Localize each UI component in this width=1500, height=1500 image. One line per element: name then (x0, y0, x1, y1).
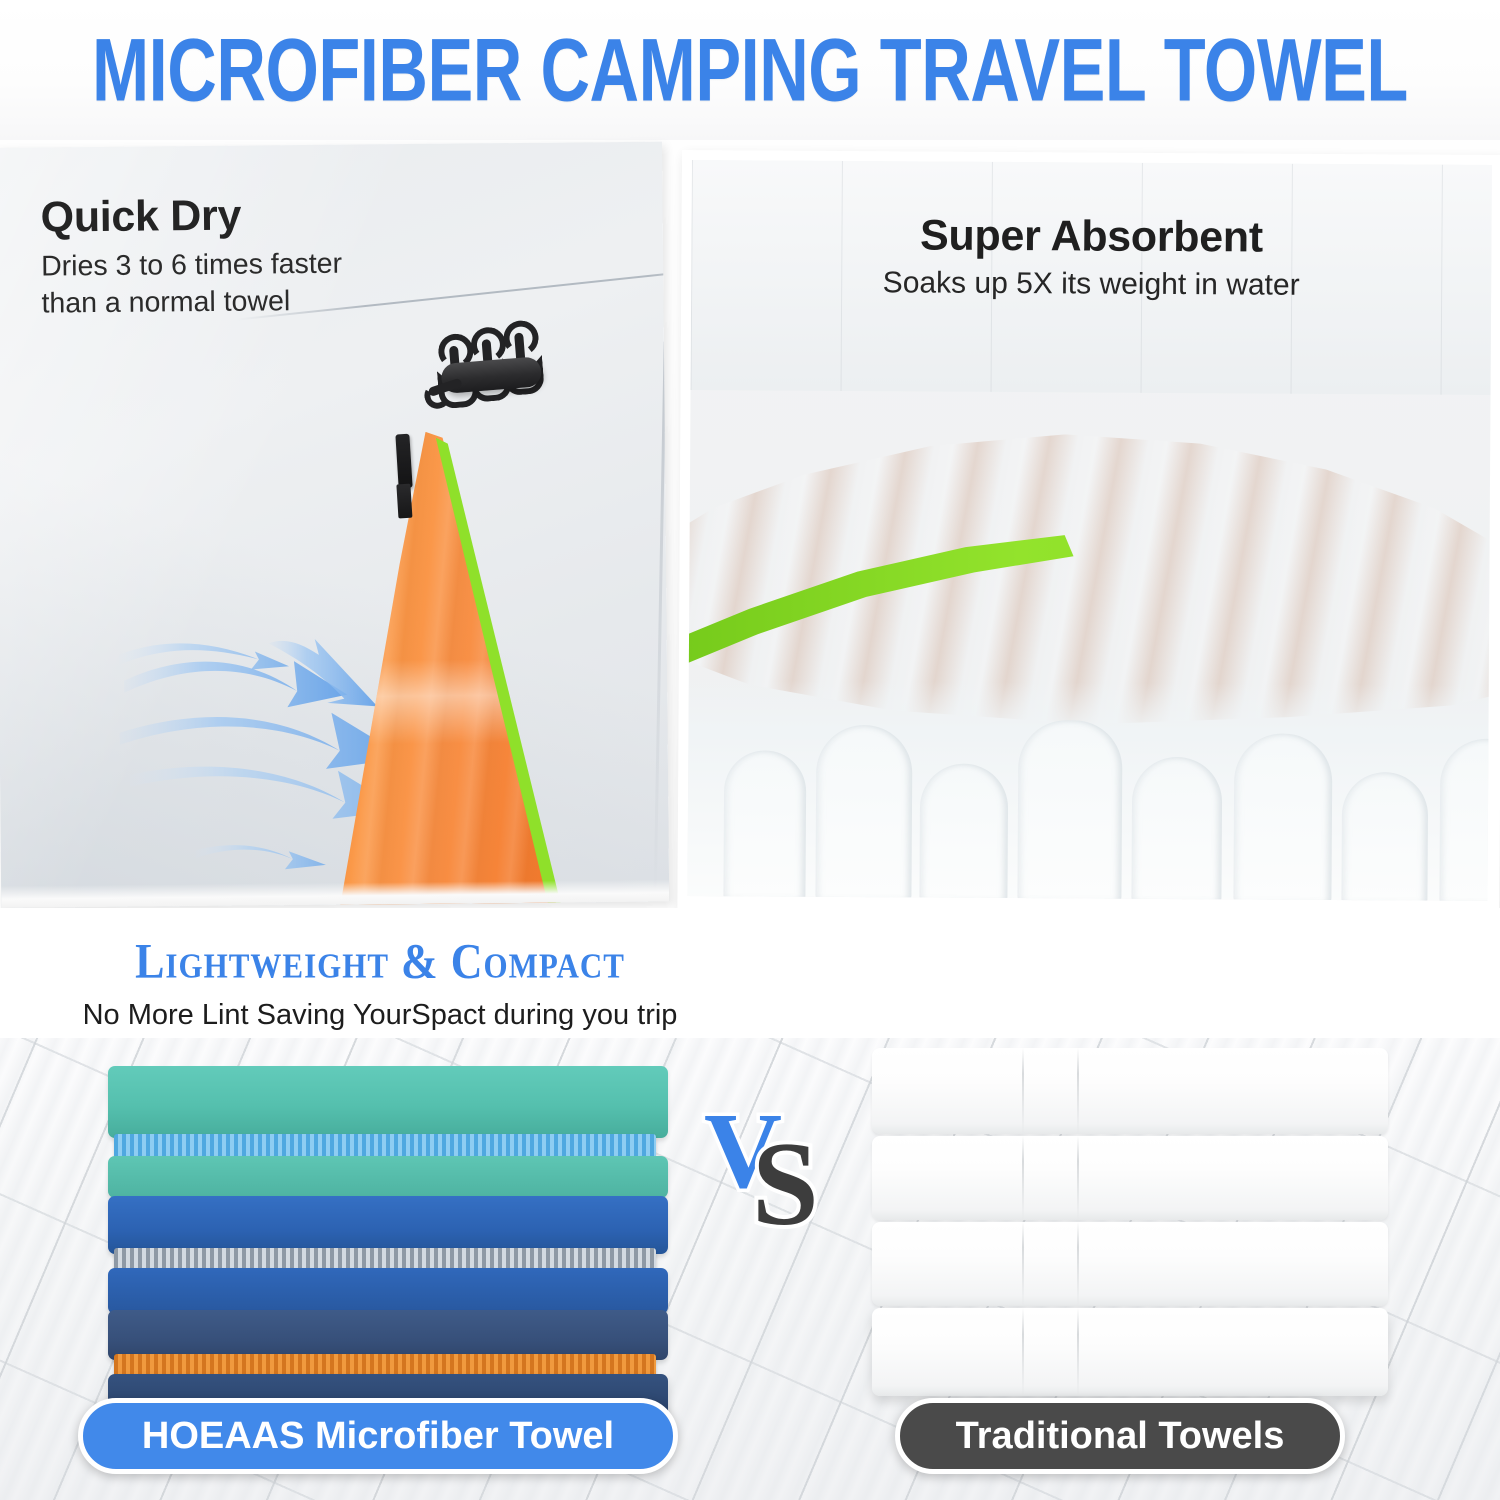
versus-s-letter: S (752, 1124, 819, 1244)
list-item (108, 1156, 668, 1198)
comparison-heading: Lightweight & Compact (0, 933, 760, 990)
water-stream (919, 763, 1008, 900)
page-title: MICROFIBER CAMPING TRAVEL TOWEL (92, 25, 1408, 114)
water-stream (1131, 757, 1222, 901)
quick-dry-panel: Quick Dry Dries 3 to 6 times faster than… (0, 142, 669, 908)
towel-seam (1077, 1222, 1079, 1306)
comparison-subheading: No More Lint Saving YourSpact during you… (0, 999, 760, 1032)
super-absorbent-body: Soaks up 5X its weight in water (691, 265, 1491, 304)
comparison-text-block: Lightweight & Compact No More Lint Savin… (0, 936, 760, 1032)
water-drip-icon (687, 680, 1488, 901)
super-absorbent-text-block: Super Absorbent Soaks up 5X its weight i… (691, 210, 1492, 304)
towel-seam (1022, 1136, 1024, 1220)
towel-seam (1022, 1308, 1024, 1396)
water-stream (1017, 720, 1122, 901)
microfiber-stack (108, 1066, 668, 1386)
list-item (872, 1136, 1388, 1220)
towel-loop-tag (396, 484, 412, 519)
list-item (108, 1310, 668, 1360)
quick-dry-body-line2: than a normal towel (41, 282, 421, 322)
list-item (872, 1222, 1388, 1306)
microfiber-towel-label: HOEAAS Microfiber Towel (78, 1398, 678, 1474)
page-title-bar: MICROFIBER CAMPING TRAVEL TOWEL (0, 0, 1500, 140)
quick-dry-heading: Quick Dry (40, 192, 420, 241)
water-stream (1341, 772, 1428, 901)
list-item (108, 1066, 668, 1138)
hanging-towel-image (249, 430, 595, 908)
list-item (108, 1196, 668, 1254)
towel-seam (1022, 1222, 1024, 1306)
super-absorbent-scene: Super Absorbent Soaks up 5X its weight i… (687, 160, 1491, 901)
water-stream (1233, 733, 1332, 901)
list-item (108, 1268, 668, 1314)
towel-seam (1077, 1048, 1079, 1134)
traditional-towels-label: Traditional Towels (895, 1398, 1345, 1474)
super-absorbent-panel: Super Absorbent Soaks up 5X its weight i… (677, 150, 1500, 915)
water-stream (723, 750, 806, 900)
water-stream (815, 725, 912, 901)
list-item (872, 1308, 1388, 1396)
towel-seam (1022, 1048, 1024, 1134)
water-stream (1439, 739, 1492, 901)
quick-dry-text-block: Quick Dry Dries 3 to 6 times faster than… (40, 192, 421, 322)
list-item (872, 1048, 1388, 1134)
towel-brand-tag (395, 434, 412, 489)
towel-seam (1077, 1136, 1079, 1220)
versus-badge: V S (700, 1090, 850, 1250)
towel-seam (1077, 1308, 1079, 1396)
super-absorbent-heading: Super Absorbent (691, 210, 1491, 264)
traditional-stack (872, 1048, 1388, 1388)
infographic-root: MICROFIBER CAMPING TRAVEL TOWEL Quick Dr… (0, 0, 1500, 1500)
quick-dry-body-line1: Dries 3 to 6 times faster (41, 245, 421, 285)
